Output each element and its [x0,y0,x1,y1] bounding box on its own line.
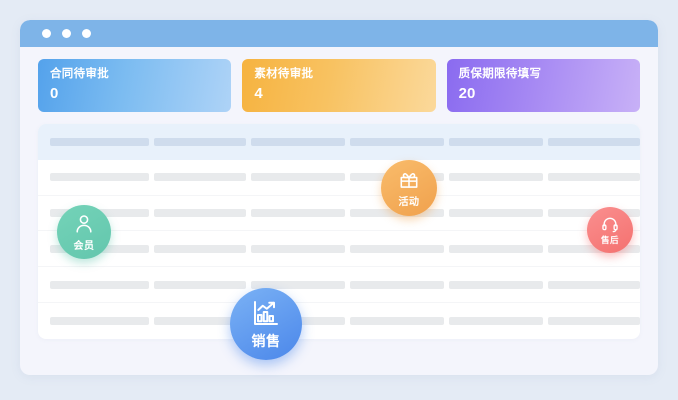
gift-icon [398,169,420,191]
table-cell [449,209,543,217]
table-cell [251,173,345,181]
table-header-cell [350,138,444,146]
table-cell [548,173,640,181]
table-header-cell [154,138,246,146]
stat-card-contract-pending-approval[interactable]: 合同待审批 0 [38,59,231,112]
table-cell [154,245,246,253]
table-header-row [38,124,640,160]
table-cell [251,209,345,217]
table-header-cell [548,138,640,146]
window-titlebar [20,20,658,47]
stat-card-value: 20 [459,83,628,105]
data-table-panel [38,124,640,339]
table-cell [50,281,149,289]
table-cell [154,173,246,181]
badge-member[interactable]: 会员 [57,205,111,259]
table-cell [50,317,149,325]
table-cell [548,281,640,289]
stat-card-title: 合同待审批 [50,67,219,81]
badge-sales[interactable]: 销售 [230,288,302,360]
stat-card-value: 4 [254,83,423,105]
stat-card-value: 0 [50,83,219,105]
table-cell [350,245,444,253]
table-row[interactable] [38,231,640,267]
stat-card-warranty-period-pending-fill[interactable]: 质保期限待填写 20 [447,59,640,112]
stat-card-title: 素材待审批 [254,67,423,81]
table-row[interactable] [38,303,640,339]
table-row[interactable] [38,267,640,303]
table-cell [449,317,543,325]
table-cell [350,281,444,289]
minimize-dot[interactable] [62,29,71,38]
table-cell [251,245,345,253]
close-dot[interactable] [42,29,51,38]
table-cell [50,173,149,181]
table-cell [449,281,543,289]
badge-member-label: 会员 [74,237,95,252]
table-header-cell [449,138,543,146]
badge-sales-label: 销售 [252,331,281,351]
badge-activity[interactable]: 活动 [381,160,437,216]
table-cell [548,317,640,325]
table-cell [449,245,543,253]
table-cell [154,209,246,217]
user-icon [73,213,95,235]
maximize-dot[interactable] [82,29,91,38]
table-cell [350,317,444,325]
badge-activity-label: 活动 [399,193,420,208]
stat-card-row: 合同待审批 0 素材待审批 4 质保期限待填写 20 [38,59,640,112]
badge-aftersales-label: 售后 [601,234,619,246]
table-row[interactable] [38,196,640,232]
table-header-cell [251,138,345,146]
bar-chart-trend-icon [251,298,281,328]
stat-card-material-pending-approval[interactable]: 素材待审批 4 [242,59,435,112]
app-window-frame: 合同待审批 0 素材待审批 4 质保期限待填写 20 [20,20,658,375]
badge-aftersales[interactable]: 售后 [587,207,633,253]
table-cell [449,173,543,181]
table-row[interactable] [38,160,640,196]
window-control-dots [42,29,91,38]
table-cell [154,281,246,289]
table-header-cell [50,138,149,146]
headset-icon [601,215,619,233]
stat-card-title: 质保期限待填写 [459,67,628,81]
